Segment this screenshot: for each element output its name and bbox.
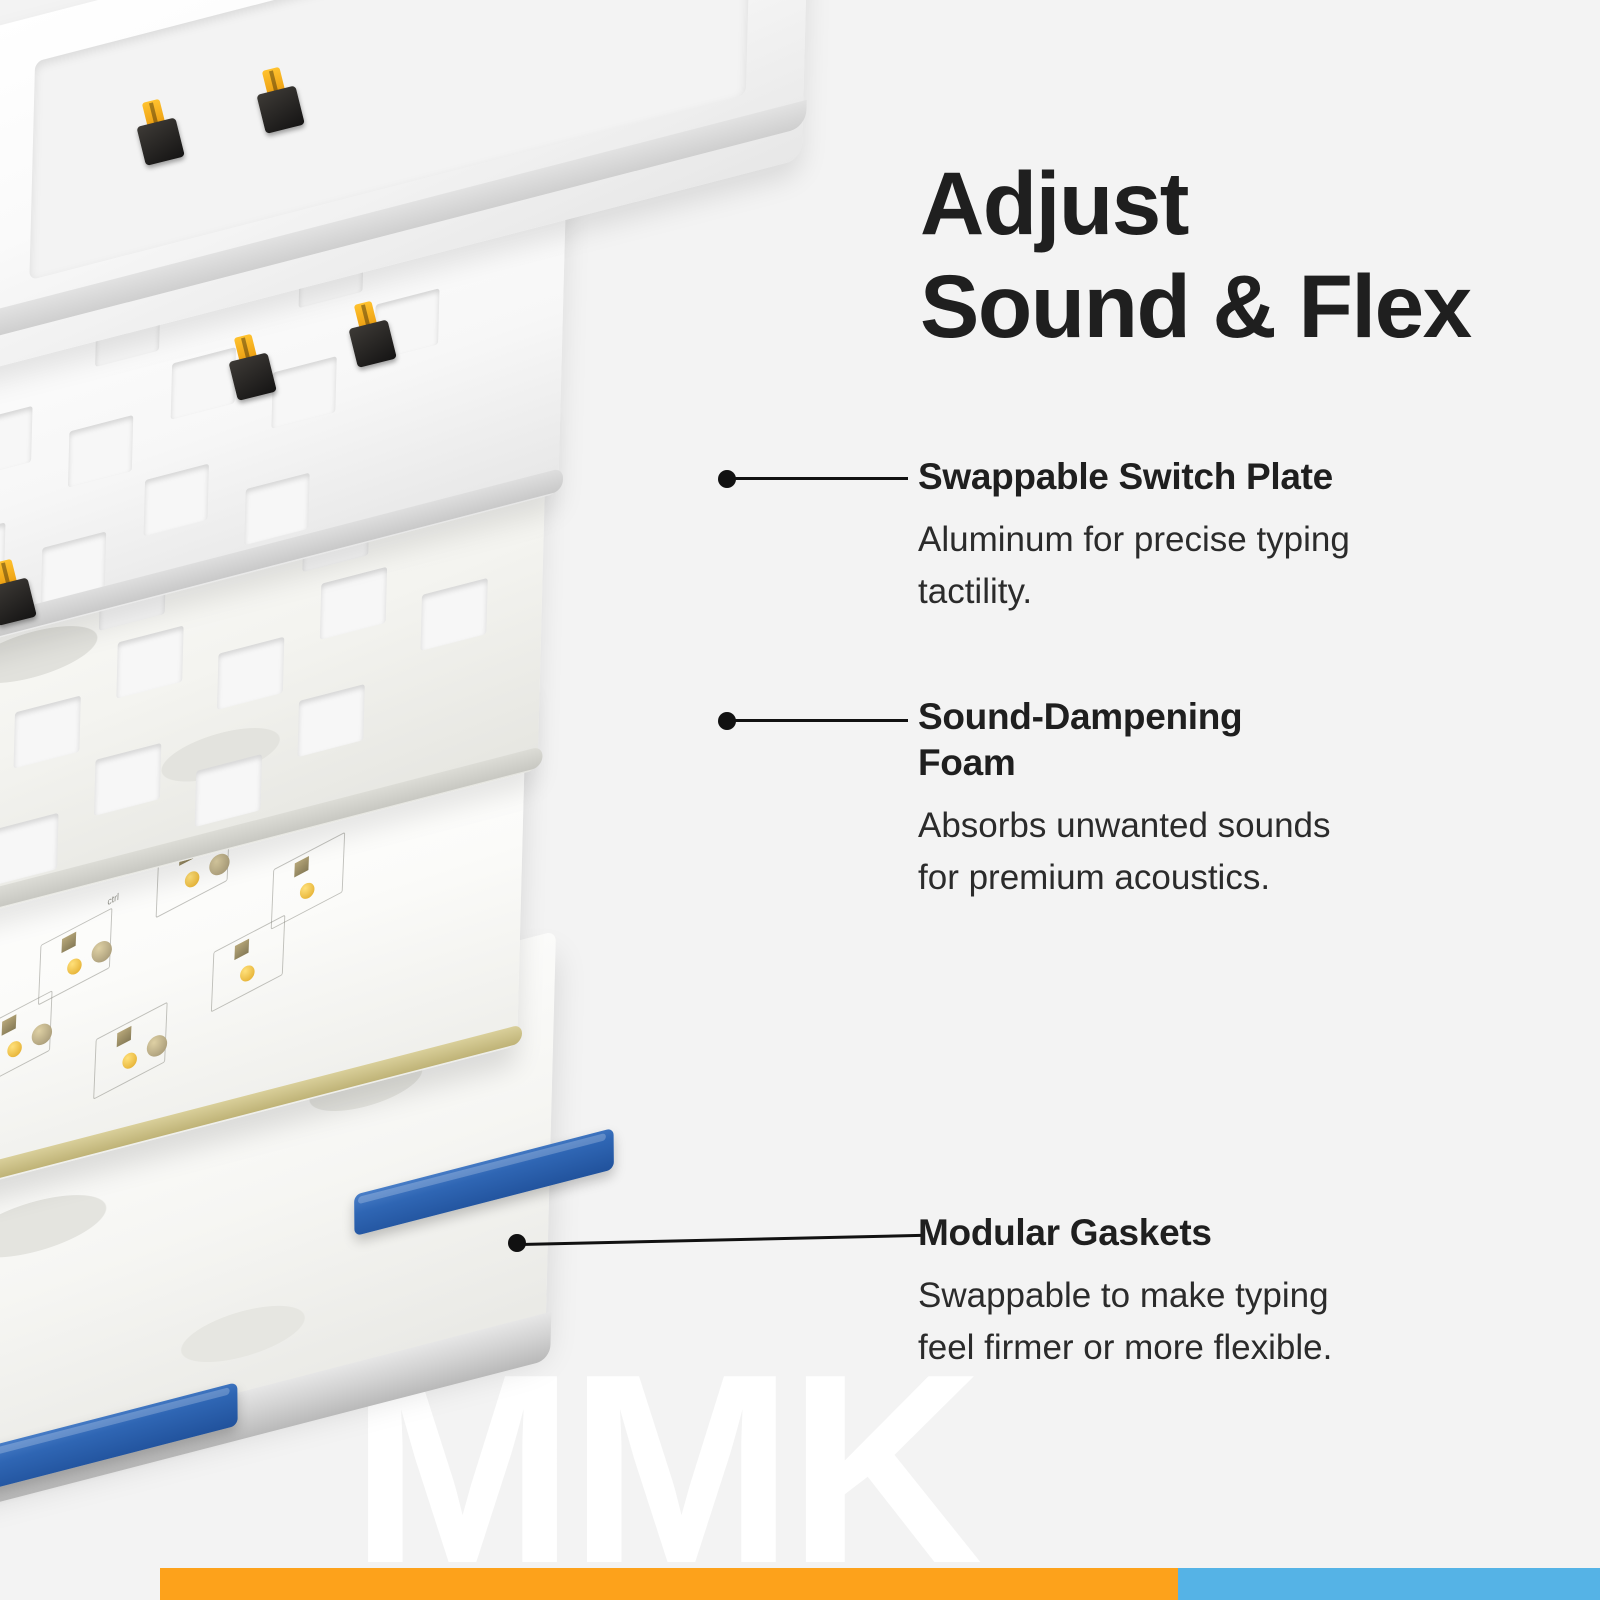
feature-title: Swappable Switch Plate [918, 454, 1538, 500]
accent-bar-orange-segment [160, 1568, 1178, 1600]
accent-bar-blue-segment [1178, 1568, 1600, 1600]
callout-line [732, 477, 908, 480]
infographic-canvas: MMK [0, 0, 1600, 1600]
page-title: Adjust Sound & Flex [920, 152, 1471, 358]
callout-line [521, 1234, 921, 1246]
top-case-opening [29, 0, 751, 280]
callout-line [732, 719, 908, 722]
feature-block-gaskets: Modular Gaskets Swappable to make typing… [918, 1210, 1538, 1374]
feature-body: Swappable to make typing feel firmer or … [918, 1270, 1348, 1374]
feature-title: Modular Gaskets [918, 1210, 1538, 1256]
feature-block-foam: Sound-Dampening Foam Absorbs unwanted so… [918, 694, 1538, 904]
pcb-silk-ctrl: ctrl [107, 891, 119, 908]
feature-body: Aluminum for precise typing tactility. [918, 514, 1388, 618]
feature-block-switch-plate: Swappable Switch Plate Aluminum for prec… [918, 454, 1538, 618]
exploded-keyboard-illustration: alt shift ctrl GLORIOUS [0, 0, 1000, 1600]
feature-body: Absorbs unwanted sounds for premium acou… [918, 800, 1348, 904]
callout-connector-switch-plate [718, 470, 908, 490]
feature-title: Sound-Dampening Foam [918, 694, 1338, 786]
callout-connector-gaskets [508, 1234, 920, 1254]
callout-connector-foam [718, 712, 908, 732]
accent-bar-gap [0, 1568, 160, 1600]
bottom-accent-bar [0, 1568, 1600, 1600]
